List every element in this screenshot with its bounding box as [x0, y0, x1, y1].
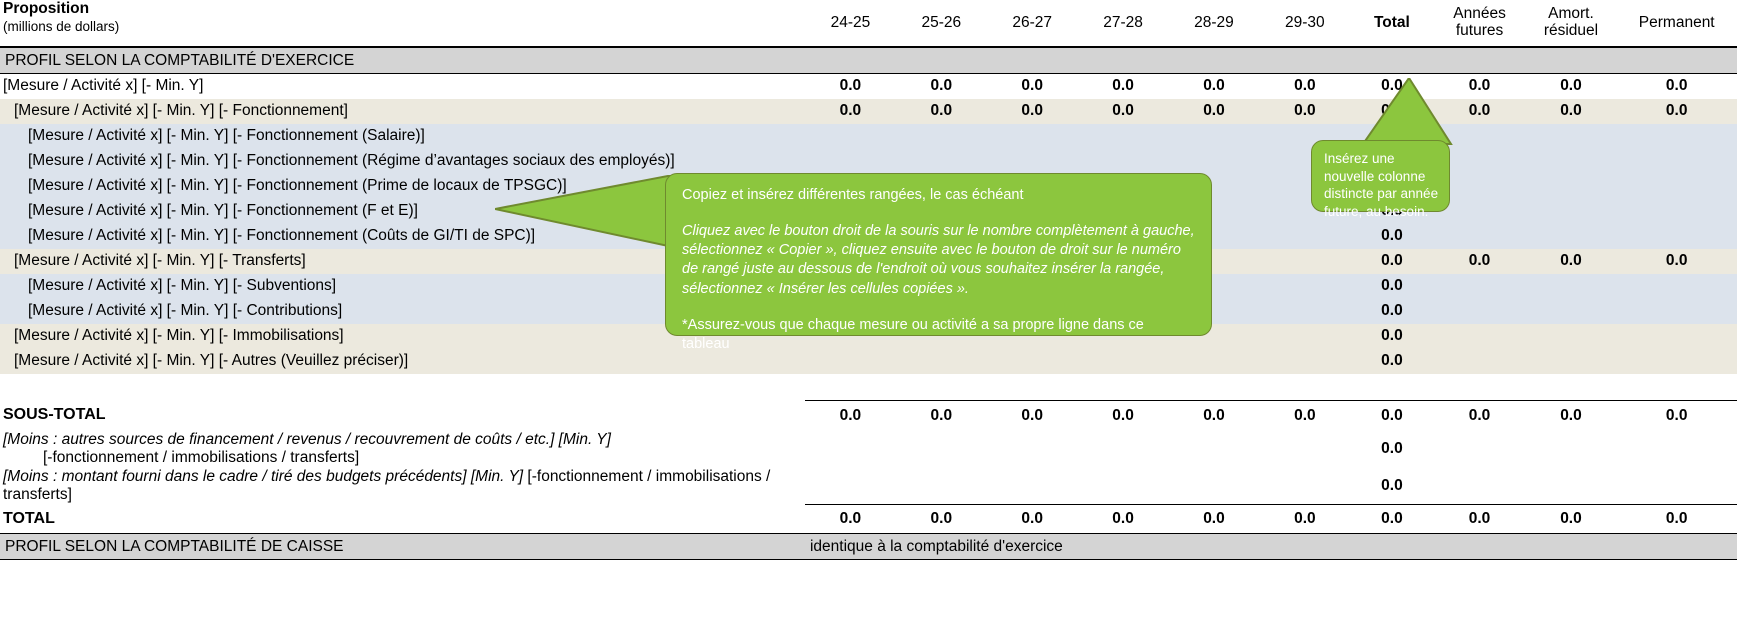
- spacer-cell: [805, 374, 896, 401]
- cell-amort-residuel[interactable]: [1526, 468, 1617, 505]
- cell-permanent[interactable]: [1616, 274, 1737, 299]
- table-row[interactable]: [Mesure / Activité x] [- Min. Y] 0.0 0.0…: [0, 74, 1737, 99]
- col-header-amort-residuel-line1: Amort.: [1548, 5, 1594, 22]
- total-28-29: 0.0: [1169, 505, 1260, 534]
- section-band-accrual: PROFIL SELON LA COMPTABILITÉ D'EXERCICE: [0, 47, 1737, 74]
- section-band-accrual-label: PROFIL SELON LA COMPTABILITÉ D'EXERCICE: [0, 47, 1737, 74]
- subtotal-27-28: 0.0: [1078, 400, 1169, 431]
- col-header-amort-residuel-line2: résiduel: [1544, 22, 1598, 39]
- cell-total[interactable]: 0.0: [1350, 431, 1433, 468]
- cell-29-30[interactable]: [1259, 468, 1350, 505]
- row-label: [Mesure / Activité x] [- Min. Y] [- Fonc…: [0, 149, 805, 174]
- total-26-27: 0.0: [987, 505, 1078, 534]
- col-header-amort-residuel: Amort. résiduel: [1526, 0, 1617, 47]
- cell-24-25[interactable]: [805, 124, 896, 149]
- deduction-label-italic: [Moins : autres sources de financement /…: [3, 431, 611, 448]
- cell-permanent[interactable]: [1616, 324, 1737, 349]
- spacer-cell: [1169, 374, 1260, 401]
- total-24-25: 0.0: [805, 505, 896, 534]
- cell-27-28[interactable]: [1078, 468, 1169, 505]
- cell-amort-residuel[interactable]: 0.0: [1526, 99, 1617, 124]
- table-row[interactable]: [Mesure / Activité x] [- Min. Y] [- Fonc…: [0, 124, 1737, 149]
- subtotal-annees-futures: 0.0: [1434, 400, 1526, 431]
- cell-amort-residuel[interactable]: [1526, 149, 1617, 174]
- cell-annees-futures[interactable]: [1434, 349, 1526, 374]
- col-header-annees-futures-line2: futures: [1456, 22, 1503, 39]
- cell-28-29[interactable]: 0.0: [1169, 74, 1260, 99]
- total-amort-residuel: 0.0: [1526, 505, 1617, 534]
- cell-26-27[interactable]: [987, 468, 1078, 505]
- total-row: TOTAL 0.0 0.0 0.0 0.0 0.0 0.0 0.0 0.0 0.…: [0, 505, 1737, 534]
- deduction-label: [Moins : montant fourni dans le cadre / …: [0, 468, 805, 505]
- col-header-25-26: 25-26: [896, 0, 987, 47]
- spacer-cell: [987, 374, 1078, 401]
- row-label: [Mesure / Activité x] [- Min. Y] [- Fonc…: [0, 124, 805, 149]
- col-header-total: Total: [1350, 0, 1433, 47]
- col-header-annees-futures: Années futures: [1434, 0, 1526, 47]
- deduction-label: [Moins : autres sources de financement /…: [0, 431, 805, 468]
- rows-callout[interactable]: Copiez et insérez différentes rangées, l…: [665, 173, 1212, 336]
- subtotal-total: 0.0: [1350, 400, 1433, 431]
- cell-29-30[interactable]: [1259, 224, 1350, 249]
- cell-27-28[interactable]: [1078, 431, 1169, 468]
- cell-29-30[interactable]: [1259, 299, 1350, 324]
- subtotal-25-26: 0.0: [896, 400, 987, 431]
- cell-permanent[interactable]: [1616, 224, 1737, 249]
- cell-29-30[interactable]: [1259, 431, 1350, 468]
- cell-annees-futures[interactable]: [1434, 468, 1526, 505]
- page-title-cell: Proposition (millions de dollars): [0, 0, 805, 47]
- spacer-cell: [1078, 374, 1169, 401]
- cell-permanent[interactable]: 0.0: [1616, 249, 1737, 274]
- cell-annees-futures[interactable]: [1434, 224, 1526, 249]
- cell-27-28[interactable]: [1078, 149, 1169, 174]
- cell-25-26[interactable]: [896, 468, 987, 505]
- cell-26-27[interactable]: [987, 124, 1078, 149]
- col-header-28-29: 28-29: [1169, 0, 1260, 47]
- cell-28-29[interactable]: 0.0: [1169, 99, 1260, 124]
- cell-total[interactable]: 0.0: [1350, 324, 1433, 349]
- row-label: [Mesure / Activité x] [- Min. Y] [- Fonc…: [0, 99, 805, 124]
- section-band-cash-label: PROFIL SELON LA COMPTABILITÉ DE CAISSE: [0, 534, 805, 560]
- cell-total[interactable]: 0.0: [1350, 249, 1433, 274]
- cell-28-29[interactable]: [1169, 149, 1260, 174]
- total-total: 0.0: [1350, 505, 1433, 534]
- rows-callout-line1: Copiez et insérez différentes rangées, l…: [682, 186, 1195, 205]
- cell-24-25[interactable]: 0.0: [805, 99, 896, 124]
- cell-29-30[interactable]: [1259, 274, 1350, 299]
- cell-27-28[interactable]: 0.0: [1078, 99, 1169, 124]
- cell-amort-residuel[interactable]: [1526, 199, 1617, 224]
- cell-27-28[interactable]: 0.0: [1078, 74, 1169, 99]
- cell-total[interactable]: 0.0: [1350, 299, 1433, 324]
- cell-permanent[interactable]: 0.0: [1616, 99, 1737, 124]
- subtotal-26-27: 0.0: [987, 400, 1078, 431]
- spacer-cell: [1434, 374, 1526, 401]
- cell-26-27[interactable]: [987, 149, 1078, 174]
- page-title: Proposition: [3, 0, 89, 17]
- total-label: TOTAL: [0, 505, 805, 534]
- section-band-cash-note: identique à la comptabilité d'exercice: [805, 534, 1737, 560]
- total-annees-futures: 0.0: [1434, 505, 1526, 534]
- cell-amort-residuel[interactable]: [1526, 174, 1617, 199]
- cell-amort-residuel[interactable]: [1526, 124, 1617, 149]
- cell-25-26[interactable]: 0.0: [896, 99, 987, 124]
- cell-total[interactable]: 0.0: [1350, 349, 1433, 374]
- cell-permanent[interactable]: 0.0: [1616, 74, 1737, 99]
- deduction-label-italic: [Moins : montant fourni dans le cadre / …: [3, 468, 523, 485]
- subtotal-24-25: 0.0: [805, 400, 896, 431]
- cell-annees-futures[interactable]: [1434, 274, 1526, 299]
- cell-29-30[interactable]: 0.0: [1259, 99, 1350, 124]
- table-header-row: Proposition (millions de dollars) 24-25 …: [0, 0, 1737, 47]
- rows-callout-paragraph: Cliquez avec le bouton droit de la souri…: [682, 222, 1195, 299]
- cell-28-29[interactable]: [1169, 431, 1260, 468]
- cell-27-28[interactable]: [1078, 124, 1169, 149]
- cell-amort-residuel[interactable]: [1526, 324, 1617, 349]
- cell-29-30[interactable]: 0.0: [1259, 74, 1350, 99]
- spacer-cell: [896, 374, 987, 401]
- total-29-30: 0.0: [1259, 505, 1350, 534]
- page-subtitle: (millions de dollars): [3, 19, 805, 34]
- cell-amort-residuel[interactable]: [1526, 299, 1617, 324]
- deduction-row[interactable]: [Moins : montant fourni dans le cadre / …: [0, 468, 1737, 505]
- table-row[interactable]: [Mesure / Activité x] [- Min. Y] [- Fonc…: [0, 149, 1737, 174]
- cell-24-25[interactable]: 0.0: [805, 74, 896, 99]
- col-header-annees-futures-line1: Années: [1453, 5, 1506, 22]
- cell-amort-residuel[interactable]: [1526, 431, 1617, 468]
- cell-annees-futures[interactable]: 0.0: [1434, 249, 1526, 274]
- cell-amort-residuel[interactable]: 0.0: [1526, 249, 1617, 274]
- total-25-26: 0.0: [896, 505, 987, 534]
- cell-permanent[interactable]: [1616, 124, 1737, 149]
- cell-permanent[interactable]: [1616, 299, 1737, 324]
- cell-amort-residuel[interactable]: [1526, 274, 1617, 299]
- cell-25-26[interactable]: [896, 431, 987, 468]
- cell-amort-residuel[interactable]: 0.0: [1526, 74, 1617, 99]
- cell-permanent[interactable]: [1616, 468, 1737, 505]
- cell-annees-futures[interactable]: [1434, 299, 1526, 324]
- total-permanent: 0.0: [1616, 505, 1737, 534]
- cell-permanent[interactable]: [1616, 149, 1737, 174]
- row-label: [Mesure / Activité x] [- Min. Y]: [0, 74, 805, 99]
- cell-permanent[interactable]: [1616, 349, 1737, 374]
- cell-24-25[interactable]: [805, 468, 896, 505]
- subtotal-amort-residuel: 0.0: [1526, 400, 1617, 431]
- spacer-cell: [1616, 374, 1737, 401]
- subtotal-permanent: 0.0: [1616, 400, 1737, 431]
- cell-total[interactable]: 0.0: [1350, 224, 1433, 249]
- deduction-label-plain: [-fonctionnement / immobilisations / tra…: [3, 449, 359, 468]
- cell-total[interactable]: 0.0: [1350, 274, 1433, 299]
- col-header-27-28: 27-28: [1078, 0, 1169, 47]
- cell-annees-futures[interactable]: [1434, 324, 1526, 349]
- cell-amort-residuel[interactable]: [1526, 349, 1617, 374]
- cell-24-25[interactable]: [805, 149, 896, 174]
- spacer-cell: [1259, 374, 1350, 401]
- cell-24-25[interactable]: [805, 431, 896, 468]
- cell-28-29[interactable]: [1169, 124, 1260, 149]
- subtotal-row: SOUS-TOTAL 0.0 0.0 0.0 0.0 0.0 0.0 0.0 0…: [0, 400, 1737, 431]
- cell-26-27[interactable]: [987, 431, 1078, 468]
- cell-annees-futures[interactable]: [1434, 431, 1526, 468]
- cell-28-29[interactable]: [1169, 468, 1260, 505]
- col-header-26-27: 26-27: [987, 0, 1078, 47]
- subtotal-label: SOUS-TOTAL: [0, 400, 805, 431]
- col-header-permanent: Permanent: [1616, 0, 1737, 47]
- cell-amort-residuel[interactable]: [1526, 224, 1617, 249]
- spreadsheet-page: Proposition (millions de dollars) 24-25 …: [0, 0, 1737, 636]
- cell-29-30[interactable]: [1259, 324, 1350, 349]
- spacer-cell: [1350, 374, 1433, 401]
- column-callout-text: Insérez une nouvelle colonne distincte p…: [1324, 151, 1438, 219]
- cell-26-27[interactable]: 0.0: [987, 99, 1078, 124]
- cell-permanent[interactable]: [1616, 431, 1737, 468]
- col-header-29-30: 29-30: [1259, 0, 1350, 47]
- cell-26-27[interactable]: 0.0: [987, 74, 1078, 99]
- rows-callout-note: *Assurez-vous que chaque mesure ou activ…: [682, 316, 1195, 354]
- subtotal-29-30: 0.0: [1259, 400, 1350, 431]
- subtotal-28-29: 0.0: [1169, 400, 1260, 431]
- cell-25-26[interactable]: [896, 149, 987, 174]
- cell-permanent[interactable]: [1616, 199, 1737, 224]
- cell-29-30[interactable]: [1259, 349, 1350, 374]
- cell-29-30[interactable]: [1259, 249, 1350, 274]
- total-27-28: 0.0: [1078, 505, 1169, 534]
- table-row[interactable]: [Mesure / Activité x] [- Min. Y] [- Fonc…: [0, 99, 1737, 124]
- section-band-cash: PROFIL SELON LA COMPTABILITÉ DE CAISSE i…: [0, 534, 1737, 560]
- cell-total[interactable]: 0.0: [1350, 468, 1433, 505]
- deduction-row[interactable]: [Moins : autres sources de financement /…: [0, 431, 1737, 468]
- spacer-cell: [0, 374, 805, 401]
- col-header-24-25: 24-25: [805, 0, 896, 47]
- cell-25-26[interactable]: [896, 124, 987, 149]
- spacer-row: [0, 374, 1737, 401]
- column-callout[interactable]: Insérez une nouvelle colonne distincte p…: [1311, 140, 1450, 212]
- cell-25-26[interactable]: 0.0: [896, 74, 987, 99]
- spacer-cell: [1526, 374, 1617, 401]
- cell-permanent[interactable]: [1616, 174, 1737, 199]
